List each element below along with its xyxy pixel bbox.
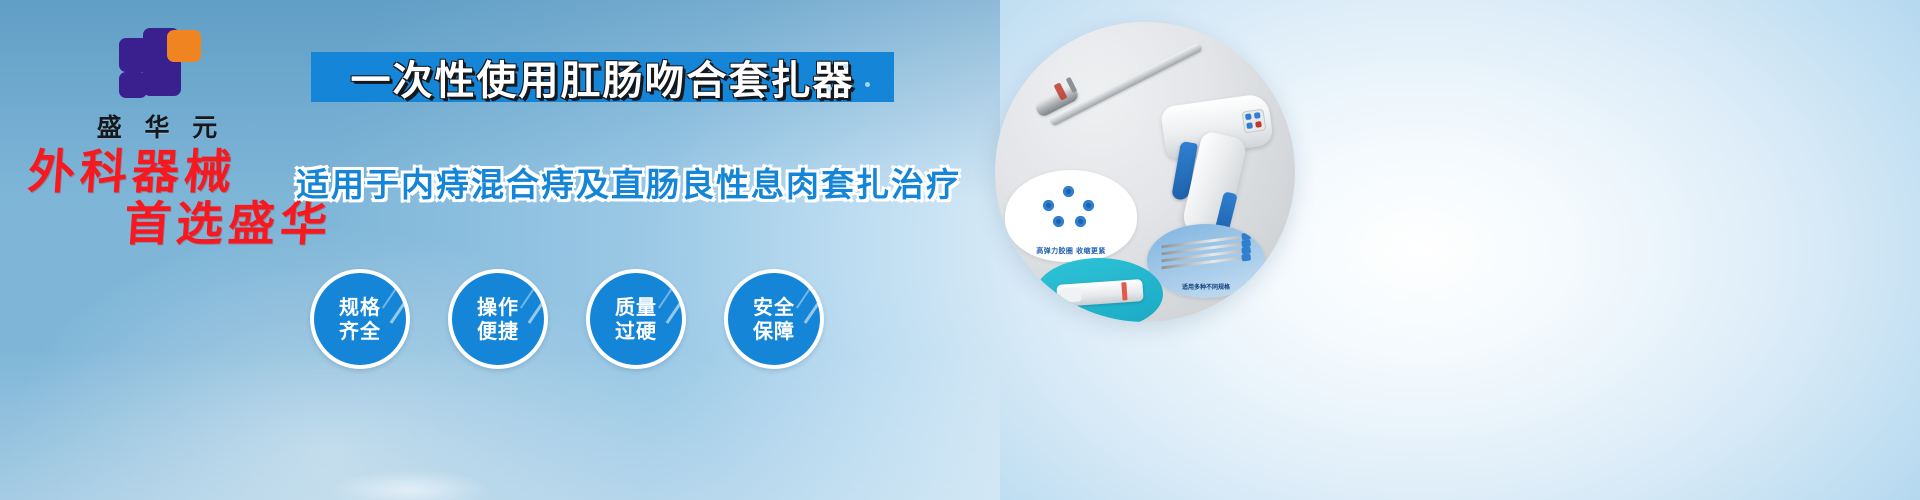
slogan-line-2: 首选盛华 — [12, 200, 375, 250]
product-photo: 高弹力胶圈 收缩更紧 适用多种不同规格 — [995, 22, 1295, 322]
rubber-rings-icon — [1041, 186, 1103, 230]
sparkle-icon — [843, 64, 848, 69]
badge-line-2: 齐全 — [339, 319, 381, 343]
feature-badge-list: 规格 齐全 操作 便捷 质量 过硬 安全 保障 — [310, 269, 824, 369]
subtitle: 适用于内痔混合痔及直肠良性息肉套扎治疗 — [296, 158, 961, 206]
badge-line-2: 便捷 — [477, 319, 519, 343]
promo-banner: 盛 华 元 外科器械 首选盛华 一次性使用肛肠吻合套扎器 适用于内痔混合痔及直肠… — [0, 0, 1920, 500]
feature-badge[interactable]: 质量 过硬 — [586, 269, 686, 369]
interlocking-squares-logo-icon — [111, 28, 203, 102]
badge-line-2: 过硬 — [615, 319, 657, 343]
sparkle-icon — [827, 86, 832, 91]
page-title: 一次性使用肛肠吻合套扎器 — [351, 48, 855, 106]
brand-logo[interactable]: 盛 华 元 — [62, 28, 252, 144]
device-inset — [1035, 258, 1163, 322]
badge-line-1: 操作 — [477, 295, 519, 319]
device-inset-illustration — [1056, 279, 1143, 307]
badge-line-1: 安全 — [753, 295, 795, 319]
badge-line-1: 质量 — [615, 295, 657, 319]
feature-badge[interactable]: 规格 齐全 — [310, 269, 410, 369]
device-button-pad — [1242, 109, 1267, 134]
bottom-shade-overlay — [0, 350, 1000, 500]
main-title-bar: 一次性使用肛肠吻合套扎器 — [311, 52, 894, 102]
needles-inset: 适用多种不同规格 — [1147, 224, 1265, 298]
brand-name: 盛 华 元 — [62, 108, 252, 144]
badge-line-2: 保障 — [753, 319, 795, 343]
bottom-glow-motif — [330, 470, 490, 500]
badge-line-1: 规格 — [339, 295, 381, 319]
feature-badge[interactable]: 安全 保障 — [724, 269, 824, 369]
rings-inset: 高弹力胶圈 收缩更紧 — [1005, 170, 1137, 262]
needles-inset-caption: 适用多种不同规格 — [1147, 282, 1265, 291]
rings-inset-caption: 高弹力胶圈 收缩更紧 — [1005, 246, 1137, 256]
sparkle-icon — [865, 82, 870, 87]
feature-badge[interactable]: 操作 便捷 — [448, 269, 548, 369]
